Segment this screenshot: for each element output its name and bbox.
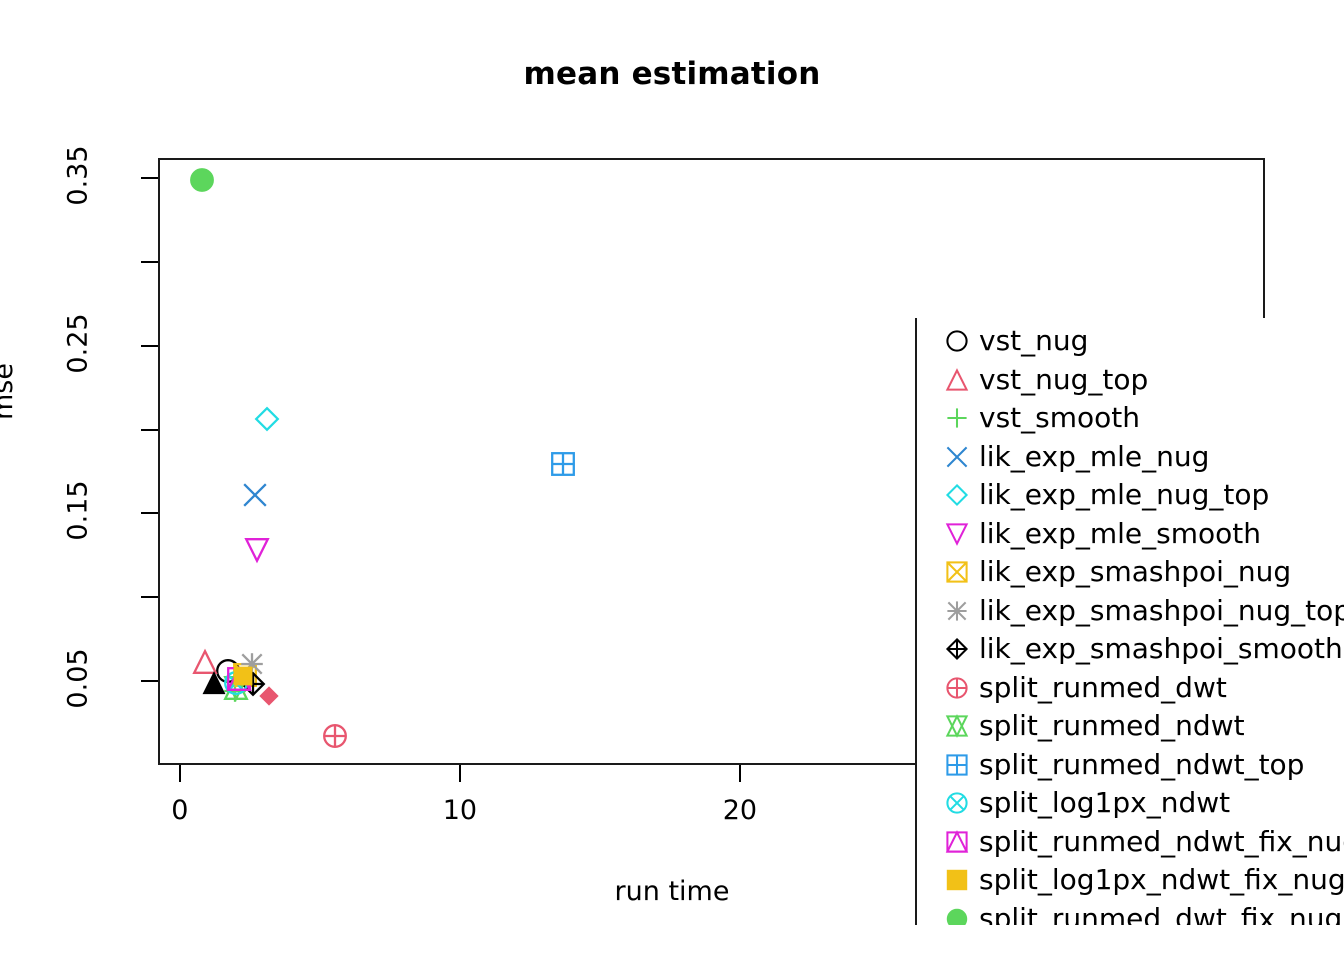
- plus-icon: [935, 399, 979, 438]
- legend-item-label: lik_exp_smashpoi_smooth: [979, 630, 1343, 669]
- square-filled-icon: [935, 861, 979, 900]
- data-point-lik_exp_mle_smooth: [243, 537, 270, 564]
- circle-plus-icon: [935, 669, 979, 708]
- legend-item-label: vst_nug: [979, 322, 1088, 361]
- cross-x-icon: [935, 438, 979, 477]
- x-axis-tick-label: 10: [400, 795, 520, 826]
- legend-item-label: lik_exp_mle_smooth: [979, 515, 1261, 554]
- legend-item-clipped[interactable]: split_runmed_dwt_fix_nug: [917, 900, 1344, 926]
- legend-item-lik_exp_mle_smooth[interactable]: lik_exp_mle_smooth: [917, 515, 1344, 554]
- circle-filled-icon: [935, 900, 979, 926]
- legend-item-label: lik_exp_mle_nug: [979, 438, 1209, 477]
- chart-root: mean estimation mse run time 0.050.150.2…: [0, 0, 1344, 960]
- square-plus-icon: [935, 746, 979, 785]
- legend-item-label: lik_exp_smashpoi_nug: [979, 553, 1291, 592]
- diamond-plus-icon: [935, 630, 979, 669]
- star-hexagram-icon: [935, 707, 979, 746]
- legend-item-label: vst_nug_top: [979, 361, 1148, 400]
- legend-item-split_log1px_ndwt[interactable]: split_log1px_ndwt: [917, 784, 1344, 823]
- y-axis-tick: [141, 429, 158, 431]
- y-axis-title: mse: [0, 363, 19, 420]
- data-point-split_runmed_dwt: [321, 722, 348, 749]
- square-x-icon: [935, 553, 979, 592]
- legend-item-split_runmed_ndwt[interactable]: split_runmed_ndwt: [917, 707, 1344, 746]
- y-axis-tick: [141, 261, 158, 263]
- legend-item-split_runmed_ndwt_top[interactable]: split_runmed_ndwt_top: [917, 746, 1344, 785]
- data-point-lik_exp_mle_nug_top: [253, 406, 280, 433]
- legend-item-label: split_runmed_ndwt: [979, 707, 1245, 746]
- diamond-open-icon: [935, 476, 979, 515]
- legend-item-label: split_log1px_ndwt: [979, 784, 1230, 823]
- legend-item-lik_exp_smashpoi_nug[interactable]: lik_exp_smashpoi_nug: [917, 553, 1344, 592]
- y-axis-tick-label: 0.15: [63, 466, 94, 556]
- y-axis-tick: [141, 596, 158, 598]
- legend-item-label: lik_exp_smashpoi_nug_top: [979, 592, 1344, 631]
- square-triangle-icon: [935, 823, 979, 862]
- legend-item-lik_exp_smashpoi_smooth[interactable]: lik_exp_smashpoi_smooth: [917, 630, 1344, 669]
- y-axis-tick-label: 0.35: [63, 131, 94, 221]
- legend-item-split_runmed_ndwt_fix_nug[interactable]: split_runmed_ndwt_fix_nug: [917, 823, 1344, 862]
- circle-open-icon: [935, 322, 979, 361]
- y-axis-tick: [141, 177, 158, 179]
- legend-item-lik_exp_smashpoi_nug_top[interactable]: lik_exp_smashpoi_nug_top: [917, 592, 1344, 631]
- legend-item-label: split_runmed_ndwt_fix_nug: [979, 823, 1344, 862]
- x-axis-tick: [739, 765, 741, 782]
- legend-item-label: split_log1px_ndwt_fix_nug: [979, 861, 1344, 900]
- triangle-up-open-icon: [935, 361, 979, 400]
- legend-item-split_runmed_dwt[interactable]: split_runmed_dwt: [917, 669, 1344, 708]
- triangle-down-open-icon: [935, 515, 979, 554]
- data-point-split_log1px_dwt_fix_nug: [201, 670, 227, 696]
- legend-item-vst_nug[interactable]: vst_nug: [917, 322, 1344, 361]
- data-point-split_log1px_ndwt_fix_nug: [232, 665, 254, 687]
- x-axis-tick: [179, 765, 181, 782]
- legend-item-label: vst_smooth: [979, 399, 1140, 438]
- x-axis-tick: [459, 765, 461, 782]
- data-point-split_other_fix_nug: [258, 685, 280, 707]
- data-point-lik_exp_mle_nug: [241, 481, 268, 508]
- legend-item-split_log1px_ndwt_fix_nug[interactable]: split_log1px_ndwt_fix_nug: [917, 861, 1344, 900]
- data-point-split_runmed_ndwt_top: [549, 451, 576, 478]
- y-axis-tick: [141, 512, 158, 514]
- y-axis-tick-label: 0.05: [63, 634, 94, 724]
- legend-item-vst_nug_top[interactable]: vst_nug_top: [917, 361, 1344, 400]
- asterisk-icon: [935, 592, 979, 631]
- chart-title: mean estimation: [0, 56, 1344, 92]
- circle-x-icon: [935, 784, 979, 823]
- legend-item-vst_smooth[interactable]: vst_smooth: [917, 399, 1344, 438]
- legend-item-label: lik_exp_mle_nug_top: [979, 476, 1269, 515]
- x-axis-tick-label: 0: [120, 795, 240, 826]
- x-axis-tick-label: 20: [680, 795, 800, 826]
- legend-item-label: split_runmed_ndwt_top: [979, 746, 1304, 785]
- y-axis-tick-label: 0.25: [63, 298, 94, 388]
- plot-panel: vst_nugvst_nug_topvst_smoothlik_exp_mle_…: [158, 158, 1265, 765]
- legend-item-label: split_runmed_dwt_fix_nug: [979, 900, 1342, 926]
- legend-item-label: split_runmed_dwt: [979, 669, 1227, 708]
- y-axis-tick: [141, 680, 158, 682]
- legend-item-lik_exp_mle_nug_top[interactable]: lik_exp_mle_nug_top: [917, 476, 1344, 515]
- legend-item-lik_exp_mle_nug[interactable]: lik_exp_mle_nug: [917, 438, 1344, 477]
- y-axis-tick: [141, 345, 158, 347]
- data-point-split_runmed_dwt_fix_nug: [188, 166, 216, 194]
- chart-legend: vst_nugvst_nug_topvst_smoothlik_exp_mle_…: [915, 318, 1344, 925]
